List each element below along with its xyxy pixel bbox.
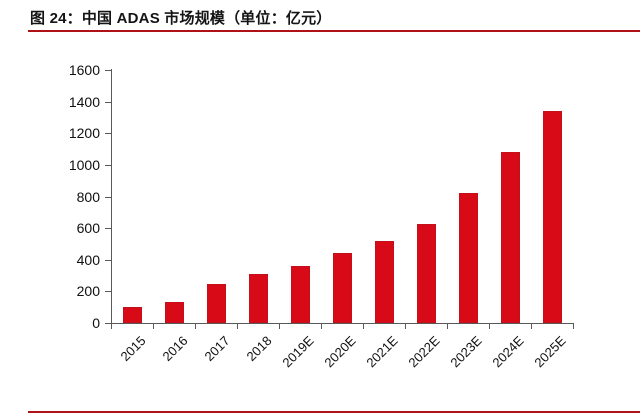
y-axis-line	[111, 69, 112, 324]
bar-chart-plot: 02004006008001000120014001600 2015201620…	[0, 0, 640, 418]
x-axis-tick-label: 2024E	[445, 333, 526, 414]
x-axis-tick-label: 2017	[151, 333, 232, 414]
y-axis-tick	[105, 228, 111, 229]
x-axis-tick-label: 2025E	[487, 333, 568, 414]
bar	[249, 274, 268, 323]
bar	[501, 152, 520, 323]
bar	[165, 302, 184, 323]
x-axis-tick-label: 2018	[193, 333, 274, 414]
x-axis-tick	[573, 323, 574, 329]
bar	[123, 307, 142, 323]
bar	[543, 111, 562, 323]
y-axis-tick-label: 200	[38, 284, 100, 298]
x-axis-tick-label: 2021E	[319, 333, 400, 414]
x-axis-line	[111, 323, 573, 324]
x-axis-tick	[405, 323, 406, 329]
x-axis-tick	[489, 323, 490, 329]
y-axis-tick-label: 800	[38, 190, 100, 204]
bar	[291, 266, 310, 323]
y-axis-tick-label: 1200	[38, 126, 100, 140]
y-axis-tick-label: 400	[38, 253, 100, 267]
x-axis-tick	[321, 323, 322, 329]
x-axis-tick	[279, 323, 280, 329]
y-axis-tick	[105, 165, 111, 166]
bar	[417, 224, 436, 323]
y-axis-tick-label: 1600	[38, 63, 100, 77]
y-axis-tick	[105, 70, 111, 71]
bar	[459, 193, 478, 323]
y-axis-tick	[105, 102, 111, 103]
y-axis-tick-label: 1400	[38, 95, 100, 109]
x-axis-tick	[363, 323, 364, 329]
x-axis-tick-label: 2019E	[235, 333, 316, 414]
x-axis-tick	[195, 323, 196, 329]
x-axis-tick	[237, 323, 238, 329]
x-axis-tick	[111, 323, 112, 329]
y-axis-tick	[105, 260, 111, 261]
bar	[207, 284, 226, 323]
figure-container: 图 24：中国 ADAS 市场规模（单位：亿元） 020040060080010…	[0, 0, 640, 418]
y-axis-tick-label: 1000	[38, 158, 100, 172]
x-axis-tick-label: 2015	[67, 333, 148, 414]
x-axis-tick	[153, 323, 154, 329]
y-axis-tick	[105, 197, 111, 198]
x-axis-tick-label: 2023E	[403, 333, 484, 414]
x-axis-tick-label: 2022E	[361, 333, 442, 414]
x-axis-tick-label: 2020E	[277, 333, 358, 414]
y-axis-tick	[105, 291, 111, 292]
bar	[333, 253, 352, 323]
x-axis-tick	[447, 323, 448, 329]
y-axis-tick-label: 0	[38, 316, 100, 330]
y-axis-tick-label: 600	[38, 221, 100, 235]
bar	[375, 241, 394, 323]
y-axis-tick	[105, 133, 111, 134]
x-axis-tick	[531, 323, 532, 329]
x-axis-tick-label: 2016	[109, 333, 190, 414]
